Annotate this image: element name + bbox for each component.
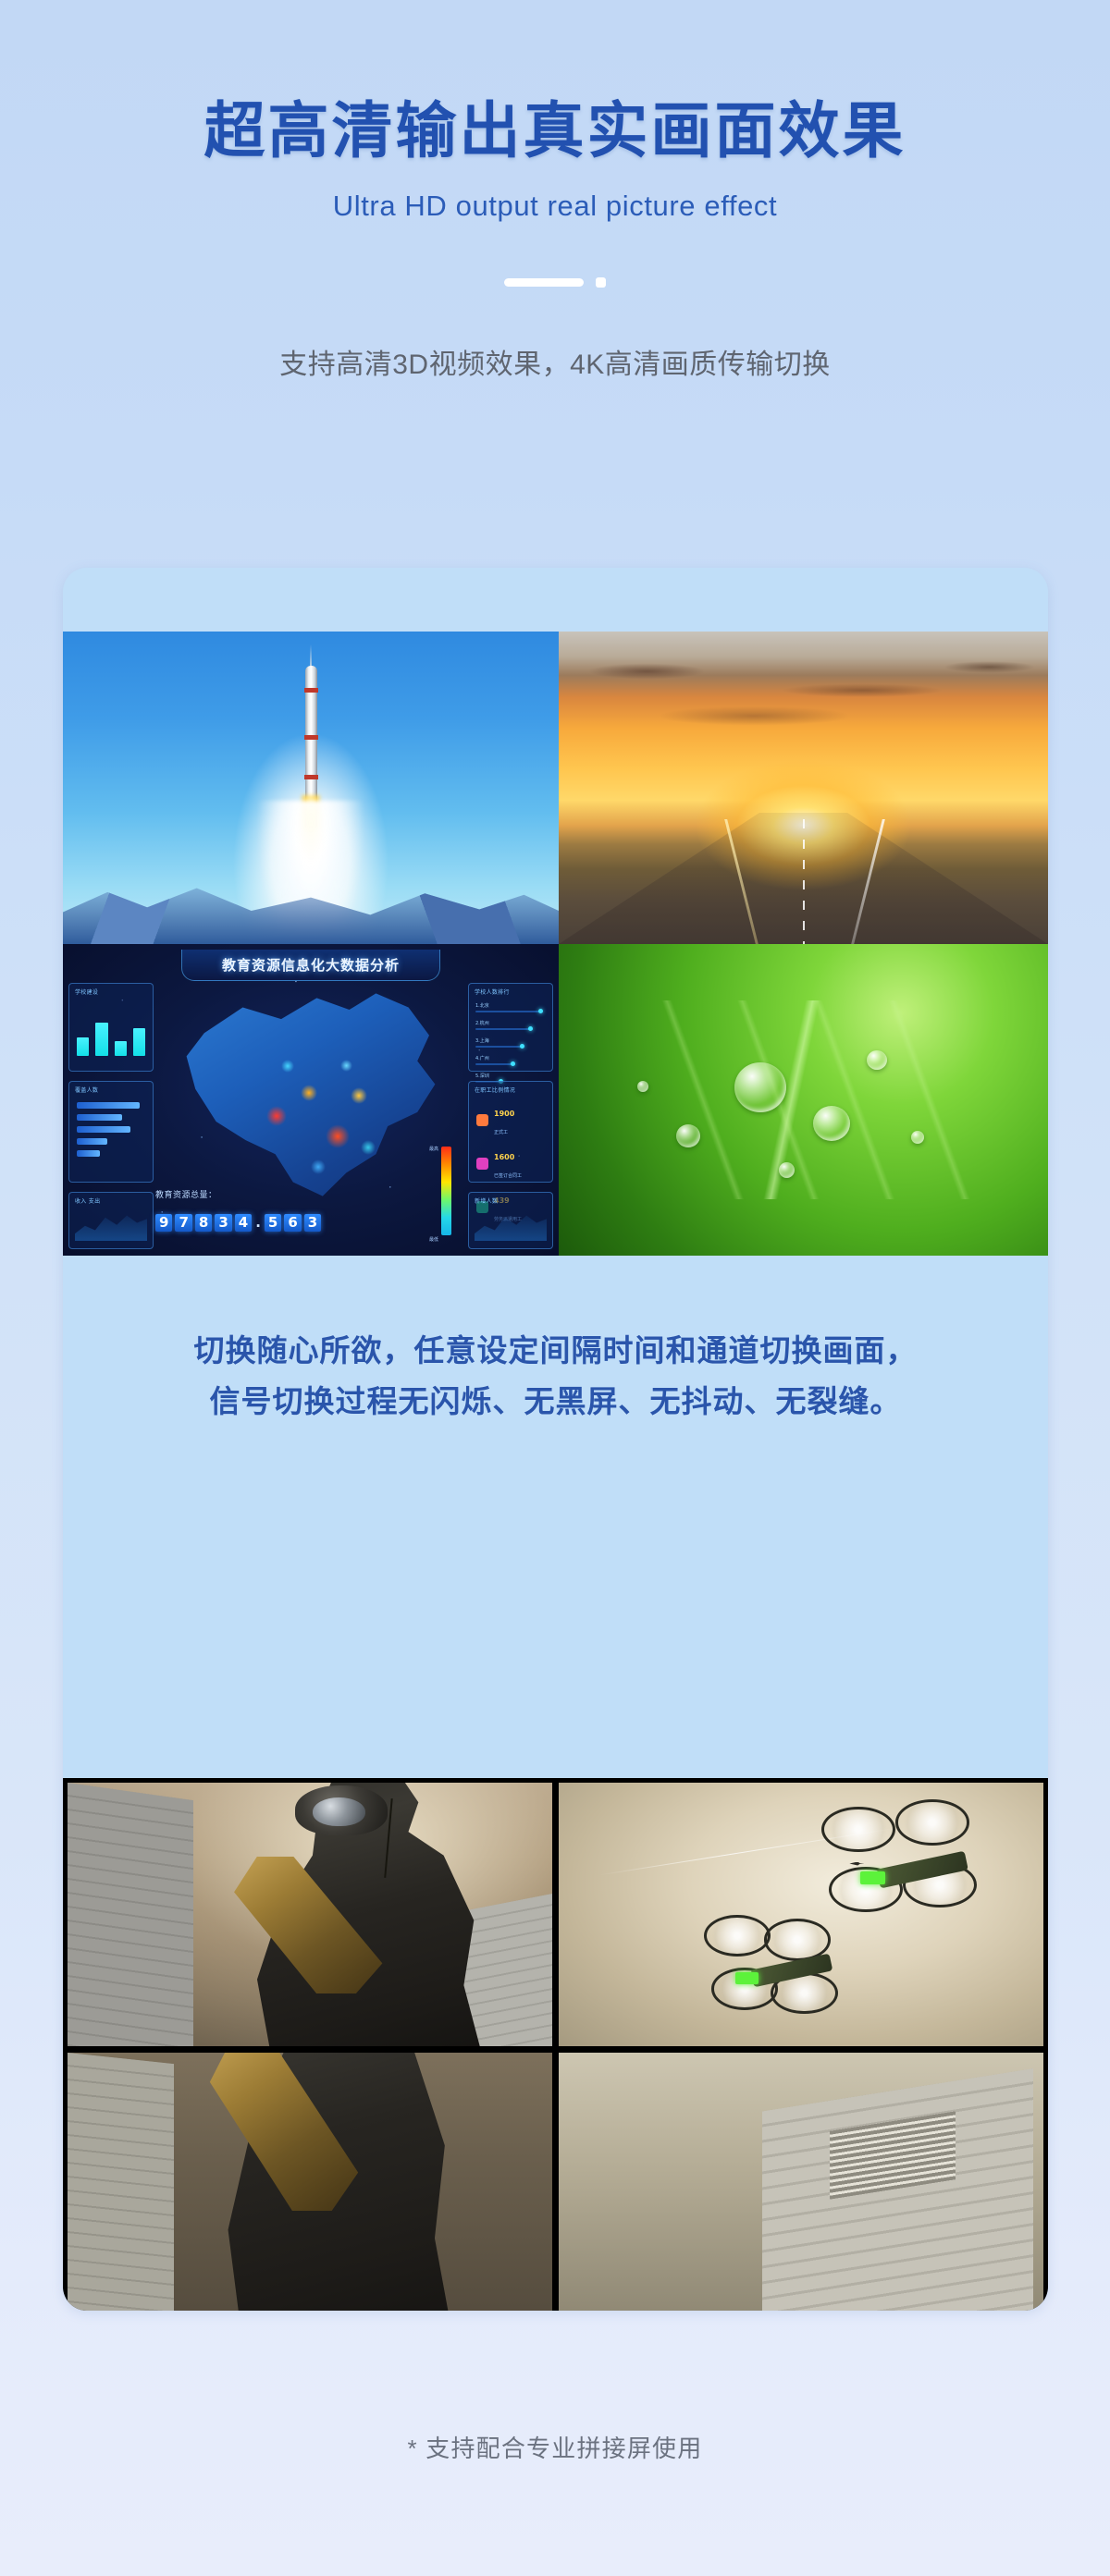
stat-label: 已签订合同工: [494, 1173, 522, 1179]
drone-led: [860, 1871, 885, 1884]
map-hotspot: [266, 1106, 287, 1126]
panel-bar-chart: [77, 1008, 145, 1056]
video-wall-cell-soldier: [68, 1783, 552, 2046]
drone-rotor: [895, 1799, 969, 1845]
feature-copy-line-1: 切换随心所欲，任意设定间隔时间和通道切换画面，: [63, 1326, 1048, 1377]
panel-area-chart: [75, 1208, 147, 1241]
dashboard-panel-left-mid: 覆盖人数: [68, 1081, 154, 1183]
digit: 7: [175, 1214, 191, 1232]
digit-separator: .: [254, 1214, 262, 1232]
footer-note: * 支持配合专业拼接屏使用: [0, 2430, 1110, 2464]
heatmap-legend-bar: [441, 1147, 451, 1235]
water-droplet: [911, 1131, 924, 1144]
stat-row: 1600 已签订合同工: [476, 1146, 545, 1181]
water-droplet: [637, 1081, 648, 1092]
pagination-dot-2[interactable]: [596, 277, 606, 288]
water-droplet: [779, 1162, 795, 1178]
drone-icon: [704, 1915, 880, 2026]
video-wall-cell-building: [559, 2053, 1043, 2311]
dashboard-panel-left-bottom: 收入 支出: [68, 1192, 154, 1249]
dashboard-panel-right-mid: 在职工比例情况 1900 正式工 1600 已签订合同工 439: [468, 1081, 553, 1183]
hero-section: 超高清输出真实画面效果 Ultra HD output real picture…: [0, 0, 1110, 223]
video-wall-cell-soldier-lower: [68, 2053, 552, 2311]
page-subtitle: Ultra HD output real picture effect: [0, 190, 1110, 223]
digit: 3: [304, 1214, 321, 1232]
leaf-veins: [588, 1000, 1019, 1200]
rocket-band-icon: [304, 688, 318, 693]
panel-label: 收入 支出: [75, 1196, 100, 1205]
rocket-band-icon: [304, 775, 318, 779]
feature-card: 教育资源信息化大数据分析 学校建设 覆盖人数 收入 支出 学校人数排行: [63, 568, 1048, 2311]
building-left: [68, 1783, 193, 2046]
stat-value: 1900: [494, 1110, 514, 1118]
road-center-line: [803, 819, 805, 944]
feature-copy-line-2: 信号切换过程无闪烁、无黑屏、无抖动、无裂缝。: [63, 1377, 1048, 1428]
digit: 9: [155, 1214, 172, 1232]
digit: 8: [195, 1214, 212, 1232]
map-hotspot: [351, 1087, 367, 1104]
dashboard-panel-left-top: 学校建设: [68, 983, 154, 1072]
stat-label: 正式工: [494, 1130, 508, 1135]
digit: 4: [235, 1214, 252, 1232]
building-left: [68, 2053, 174, 2311]
panel-hbar-chart: [77, 1102, 145, 1157]
drone-rotor: [821, 1807, 895, 1852]
rank-label: 3.上海: [475, 1038, 489, 1044]
map-hotspot: [340, 1060, 352, 1072]
building-facade: [762, 2068, 1033, 2311]
dashboard-total-value: 9 7 8 3 4 . 5 6 3: [155, 1214, 321, 1232]
pagination-dot-active[interactable]: [504, 278, 584, 287]
panel-label: 在职工比例情况: [475, 1086, 515, 1094]
digit: 3: [215, 1214, 231, 1232]
legend-low-label: 最低: [429, 1236, 438, 1243]
rank-label: 1.北京: [475, 1003, 489, 1009]
feature-copy: 切换随心所欲，任意设定间隔时间和通道切换画面， 信号切换过程无闪烁、无黑屏、无抖…: [63, 1326, 1048, 1428]
photo-green-leaf-dew: [559, 944, 1048, 1256]
rank-item: 3.上海: [475, 1037, 546, 1048]
rank-item: 4.广州: [475, 1055, 546, 1065]
panel-label: 学校人数排行: [475, 987, 510, 996]
people-icon: [476, 1114, 488, 1126]
photo-grid: 教育资源信息化大数据分析 学校建设 覆盖人数 收入 支出 学校人数排行: [63, 632, 1048, 1256]
lead-description: 支持高清3D视频效果，4K高清画质传输切换: [0, 341, 1110, 382]
drone-rotor: [704, 1915, 771, 1957]
digit: 5: [265, 1214, 281, 1232]
soldier-visor-icon: [313, 1797, 366, 1826]
legend-high-label: 最高: [429, 1146, 438, 1152]
video-wall-cell-drone: [559, 1783, 1043, 2046]
photo-sunset-road: [559, 632, 1048, 944]
carousel-pagination[interactable]: [0, 276, 1110, 288]
map-hotspot: [361, 1140, 376, 1155]
house-icon: [476, 1158, 488, 1170]
panel-rank-list: 1.北京 2.杭州 3.上海 4.广州 5.深圳: [475, 1002, 546, 1083]
dashboard-panel-right-top: 学校人数排行 1.北京 2.杭州 3.上海 4.广州 5.深圳: [468, 983, 553, 1072]
sunset-clouds: [559, 650, 1048, 756]
rank-label: 5.深圳: [475, 1073, 489, 1079]
rank-label: 2.杭州: [475, 1021, 489, 1026]
rocket-band-icon: [304, 735, 318, 740]
rank-label: 4.广州: [475, 1056, 489, 1061]
drone-led: [735, 1972, 758, 1984]
panel-area-chart: [475, 1208, 547, 1241]
dashboard-total-label: 教育资源总量：: [155, 1188, 217, 1200]
rank-item: 2.杭州: [475, 1020, 546, 1030]
photo-rocket-launch: [63, 632, 559, 944]
stat-value: 1600: [494, 1153, 514, 1161]
panel-label: 新增人数: [475, 1196, 498, 1205]
digit: 6: [284, 1214, 301, 1232]
dashboard-panel-right-bottom: 新增人数: [468, 1192, 553, 1249]
rank-item: 1.北京: [475, 1002, 546, 1012]
stat-row: 1900 正式工: [476, 1102, 545, 1137]
map-hotspot: [311, 1159, 326, 1174]
panel-label: 覆盖人数: [75, 1086, 98, 1094]
video-wall-grid: [63, 1778, 1048, 2311]
panel-label: 学校建设: [75, 987, 98, 996]
map-hotspot: [281, 1060, 294, 1073]
dashboard-title: 教育资源信息化大数据分析: [222, 955, 400, 975]
page-title: 超高清输出真实画面效果: [0, 98, 1110, 164]
water-droplet: [867, 1050, 887, 1070]
photo-data-dashboard: 教育资源信息化大数据分析 学校建设 覆盖人数 收入 支出 学校人数排行: [63, 944, 559, 1256]
drone-icon: [825, 1809, 1019, 1930]
map-hotspot: [301, 1085, 317, 1101]
